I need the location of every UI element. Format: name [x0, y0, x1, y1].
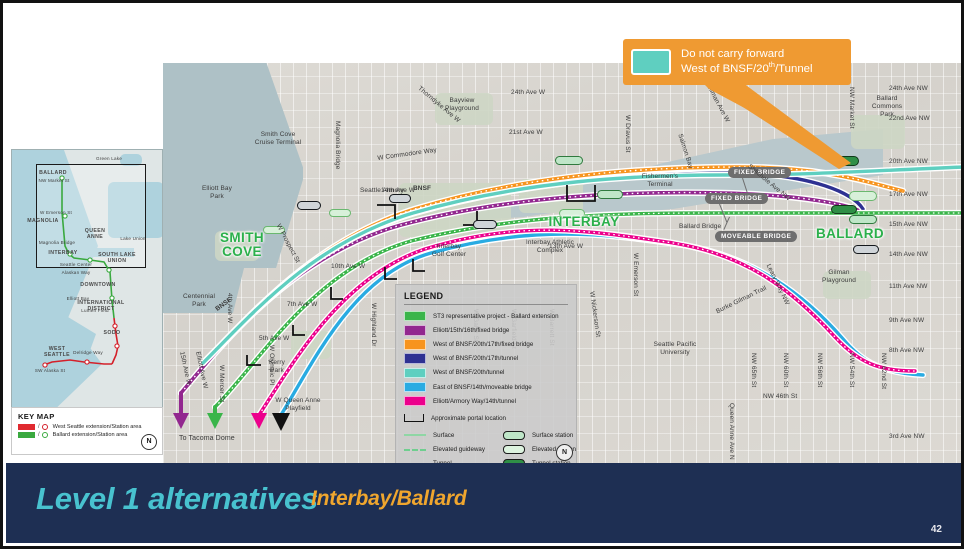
legend-swatch	[404, 325, 426, 336]
street-label: NW 65th St	[749, 353, 757, 387]
legend-label: ST3 representative project - Ballard ext…	[433, 313, 559, 320]
street-label: 24th Ave W	[511, 89, 545, 97]
legend-row-profile[interactable]: Surface	[404, 428, 485, 442]
legend-row-profile[interactable]: Elevated guideway	[404, 443, 485, 457]
terminus-label: To Tacoma Dome	[179, 435, 235, 444]
place-label: Interbay Golf Center	[419, 243, 479, 259]
street-label: 21st Ave W	[509, 129, 543, 137]
place-label: Fishermen's Terminal	[631, 173, 689, 189]
inset-neighborhood-label: DOWNTOWN	[74, 282, 122, 288]
compass-icon: N	[556, 444, 573, 461]
street-label: 13th Ave W	[549, 243, 583, 251]
compass-icon: N	[141, 434, 157, 450]
inset-street-label: W Emerson St	[34, 210, 78, 215]
street-label: W Highland Dr	[369, 303, 377, 347]
legend-label: West of BNSF/20th/17th/fixed bridge	[433, 341, 533, 348]
street-label: 4th Ave W	[225, 293, 233, 323]
legend-row-alignment[interactable]: Elliott/15th/16th/fixed bridge	[404, 323, 568, 337]
station-marker[interactable]	[555, 156, 583, 165]
legend-label: West of BNSF/20th/tunnel	[433, 369, 504, 376]
street-label: NW 62nd St	[879, 353, 887, 389]
legend-label: Elliott/Armory Way/14th/tunnel	[433, 398, 516, 405]
street-label: W Dravus St	[623, 115, 631, 153]
legend-row-portal[interactable]: Approximate portal location	[404, 410, 568, 426]
place-label: BNSF	[413, 185, 431, 193]
key-map-entry[interactable]: / West Seattle extension/Station area	[18, 424, 156, 430]
street-label: 14th Ave W	[381, 187, 415, 195]
legend-swatch	[404, 339, 426, 350]
station-marker[interactable]	[473, 220, 497, 229]
page-subtitle: Interbay/Ballard	[311, 487, 467, 511]
key-map-title: KEY MAP	[18, 412, 156, 421]
bridge-tag: MOVEABLE BRIDGE	[715, 231, 797, 242]
inset-street-label: Lumen Field	[74, 308, 116, 313]
inset-neighborhood-label: BALLARD	[30, 170, 76, 176]
legend-swatch	[404, 353, 426, 364]
street-label: 8th Ave NW	[889, 347, 924, 355]
inset-street-label: Green Lake	[94, 156, 124, 161]
legend-swatch	[404, 368, 426, 379]
slash-separator: /	[38, 424, 40, 430]
legend-label: West of BNSF/20th/17th/tunnel	[433, 355, 518, 362]
place-label: Ballard Bridge	[679, 223, 721, 231]
place-label: Smith Cove Cruise Terminal	[241, 131, 315, 147]
legend-row-alignment[interactable]: West of BNSF/20th/17th/tunnel	[404, 352, 568, 366]
station-marker[interactable]	[853, 245, 879, 254]
legend-title: LEGEND	[404, 291, 568, 305]
inset-overview-map[interactable]: BALLARD MAGNOLIA QUEEN ANNE INTERBAY SOU…	[11, 149, 163, 417]
street-label: 14th Ave NW	[889, 251, 928, 259]
station-marker[interactable]	[597, 190, 623, 199]
street-label: 22nd Ave NW	[889, 115, 930, 123]
station-marker[interactable]	[297, 201, 321, 210]
town-label-ballard: BALLARD	[811, 227, 889, 241]
town-label-smith-cove: SMITH COVE	[207, 231, 277, 259]
inset-neighborhood-label: SODO	[96, 330, 128, 336]
place-label: Magnolia Bridge	[333, 121, 341, 169]
street-label: NW 60th St	[781, 353, 789, 387]
legend-row-alignment[interactable]: ST3 representative project - Ballard ext…	[404, 309, 568, 323]
bridge-tag-label: MOVEABLE BRIDGE	[721, 233, 791, 240]
ballard-color-bar	[18, 432, 35, 438]
inset-street-label: Lake Union	[116, 236, 150, 241]
legend-label: Approximate portal location	[431, 415, 506, 422]
street-label: 20th Ave NW	[889, 158, 928, 166]
legend-row-alignment[interactable]: West of BNSF/20th/17th/fixed bridge	[404, 337, 568, 351]
inset-street-label: SW Alaska St	[30, 368, 70, 373]
inset-street-label: NW Market St	[32, 178, 76, 183]
west-seattle-color-bar	[18, 424, 35, 430]
street-label: NW 46th St	[763, 393, 797, 401]
callout-line-1: Do not carry forward	[681, 48, 784, 60]
callout-line-2-post: /Tunnel	[775, 63, 813, 75]
slide-canvas: FIXED BRIDGE FIXED BRIDGE MOVEABLE BRIDG…	[0, 0, 964, 549]
legend-row-alignment[interactable]: West of BNSF/20th/tunnel	[404, 366, 568, 380]
street-label: Queen Anne Ave N	[727, 403, 735, 460]
page-number: 42	[931, 524, 942, 535]
street-label: W Emerson St	[631, 253, 639, 296]
surface-line-icon	[404, 434, 426, 436]
key-map-label: Ballard extension/Station area	[53, 432, 128, 438]
inset-neighborhood-label: QUEEN ANNE	[74, 228, 116, 240]
legend-swatch	[404, 382, 426, 393]
street-label: 17th Ave NW	[889, 191, 928, 199]
street-label: 10th Ave W	[331, 263, 365, 271]
station-marker[interactable]	[831, 156, 859, 166]
legend-panel: LEGEND ST3 representative project - Ball…	[395, 284, 577, 464]
inset-street-label: Delridge Way	[68, 350, 108, 355]
street-label: W Olympic Pl	[267, 345, 275, 385]
station-marker[interactable]	[849, 215, 877, 224]
station-area-dot-icon	[42, 432, 48, 438]
station-area-dot-icon	[42, 424, 48, 430]
street-label: 9th Ave NW	[889, 317, 924, 325]
station-marker[interactable]	[831, 205, 857, 214]
legend-label: Surface	[433, 432, 454, 439]
street-label: NW 54th St	[847, 353, 855, 387]
key-map-label: West Seattle extension/Station area	[53, 424, 142, 430]
legend-label: Elliott/15th/16th/fixed bridge	[433, 327, 509, 334]
inset-neighborhood-label: INTERBAY	[40, 250, 86, 256]
legend-swatch	[404, 311, 426, 322]
callout-line-2-pre: West of BNSF/20	[681, 63, 769, 75]
legend-swatch	[404, 396, 426, 407]
place-label: Elliott Bay Park	[191, 185, 243, 201]
legend-label: Surface station	[532, 432, 573, 439]
town-label-interbay: INTERBAY	[543, 215, 625, 229]
street-label: NW Market St	[847, 87, 855, 129]
street-label: 3rd Ave NW	[889, 433, 925, 441]
station-marker[interactable]	[389, 194, 411, 203]
legend-row-alignment[interactable]: East of BNSF/14th/moveable bridge	[404, 380, 568, 394]
inset-street-label: Seattle Center	[54, 262, 98, 267]
key-map-entry[interactable]: / Ballard extension/Station area	[18, 432, 156, 438]
elevated-station-icon	[503, 445, 525, 454]
place-label: W Queen Anne Playfield	[267, 397, 329, 413]
street-label: 11th Ave NW	[889, 283, 927, 291]
surface-station-icon	[503, 431, 525, 440]
inset-neighborhood-label: SOUTH LAKE UNION	[92, 252, 142, 264]
callout-do-not-carry-forward[interactable]: Do not carry forward West of BNSF/20th/T…	[623, 39, 851, 85]
street-label: 15th Ave NW	[889, 221, 928, 229]
street-label: 5th Ave W	[259, 335, 289, 343]
street-label: 7th Ave W	[287, 301, 317, 309]
portal-icon	[404, 414, 424, 422]
inset-neighborhood-label: MAGNOLIA	[20, 218, 66, 224]
legend-label: East of BNSF/14th/moveable bridge	[433, 384, 532, 391]
street-label: NW 56th St	[815, 353, 823, 387]
place-label: Kerry Park	[257, 359, 297, 375]
page-title: Level 1 alternatives	[36, 481, 318, 517]
station-marker[interactable]	[849, 191, 877, 201]
slash-separator: /	[38, 432, 40, 438]
key-map-panel: KEY MAP / West Seattle extension/Station…	[11, 407, 163, 455]
bridge-tag-label: FIXED BRIDGE	[711, 195, 762, 202]
station-marker[interactable]	[329, 209, 351, 217]
legend-row-alignment[interactable]: Elliott/Armory Way/14th/tunnel	[404, 394, 568, 408]
inset-street-label: Alaskan Way	[56, 270, 96, 275]
callout-color-swatch	[631, 49, 671, 75]
legend-row-station[interactable]: Surface station	[503, 428, 576, 442]
place-label: Gilman Playground	[813, 269, 865, 285]
callout-text: Do not carry forward West of BNSF/20th/T…	[681, 48, 813, 77]
place-label: Seattle Pacific University	[645, 341, 705, 357]
title-bar: Level 1 alternatives Interbay/Ballard 42	[6, 463, 964, 543]
inset-street-label: Magnolia Bridge	[34, 240, 80, 245]
bridge-tag: FIXED BRIDGE	[705, 193, 768, 204]
inset-street-label: Elliott Bay	[58, 296, 98, 301]
street-label: W Mercer St	[217, 365, 225, 402]
street-label: 24th Ave NW	[889, 85, 928, 93]
elevated-line-icon	[404, 449, 426, 451]
legend-label: Elevated guideway	[433, 446, 485, 453]
